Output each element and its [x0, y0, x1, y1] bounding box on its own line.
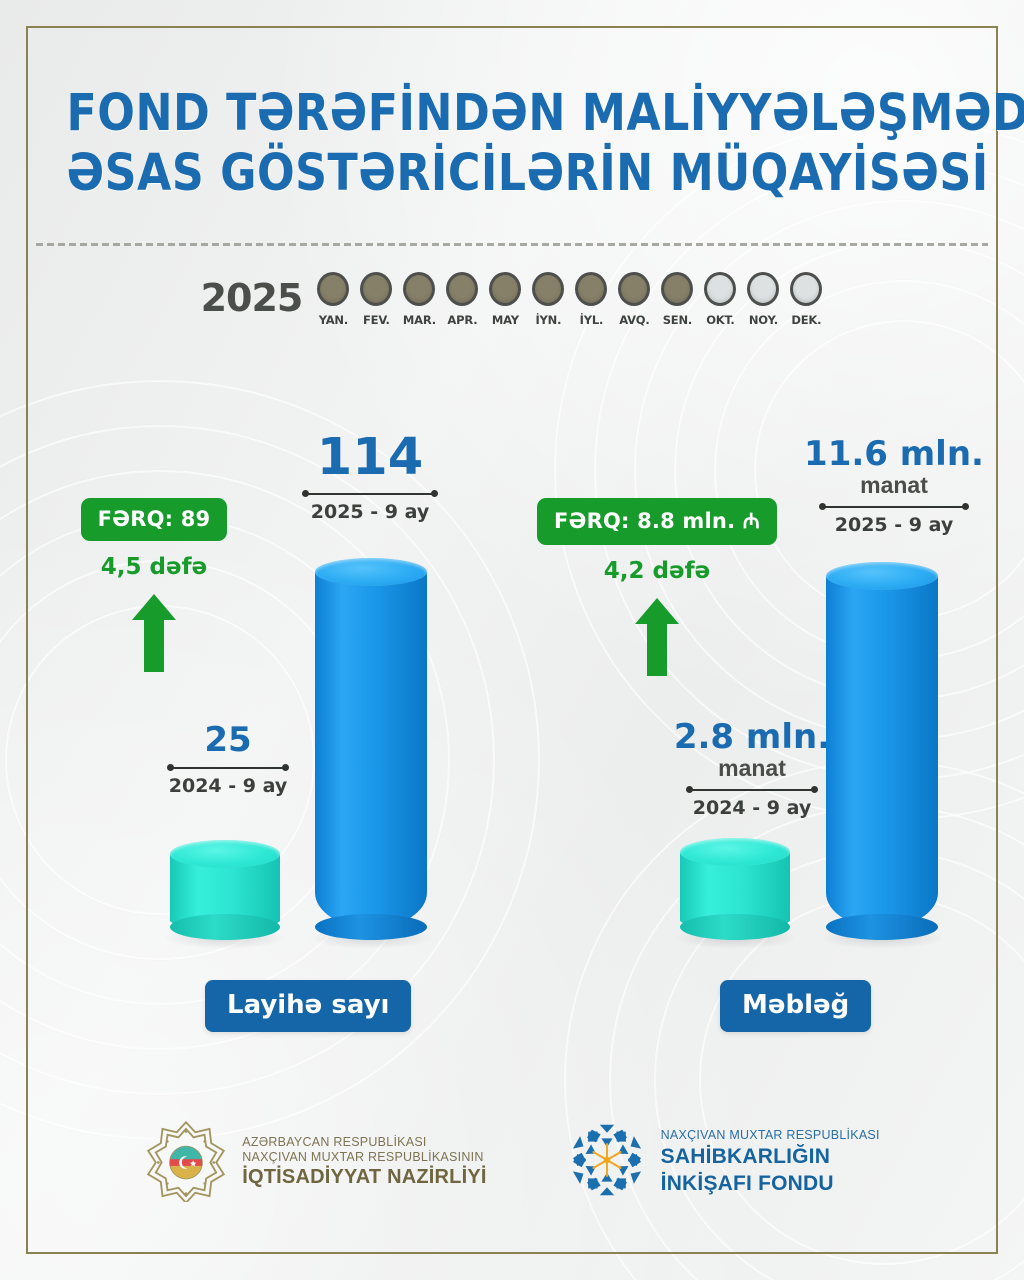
- projects-period-2024: 2024 - 9 ay: [158, 775, 298, 797]
- projects-bar-2025: [315, 558, 427, 940]
- projects-bar-2024: [170, 840, 280, 940]
- projects-difference-block: FƏRQ: 89 4,5 dəfə: [54, 498, 254, 672]
- amount-difference-block: FƏRQ: 8.8 mln. ₼ 4,2 dəfə: [512, 498, 802, 676]
- arrow-up-icon: [635, 598, 679, 676]
- infographic-poster: FOND TƏRƏFİNDƏN MALİYYƏLƏŞMƏDƏ ƏSAS GÖST…: [0, 0, 1024, 1280]
- amount-period-2024: 2024 - 9 ay: [662, 797, 842, 819]
- footer-logos: AZƏRBAYCAN RESPUBLİKASI NAXÇIVAN MUXTAR …: [0, 1118, 1024, 1207]
- projects-period-2025: 2025 - 9 ay: [290, 501, 450, 523]
- amount-value-2024: 2.8 mln.: [662, 720, 842, 755]
- fund-line-2: SAHİBKARLIĞIN: [661, 1145, 880, 1170]
- measure-rule: [819, 502, 969, 512]
- projects-callout-2025: 114 2025 - 9 ay: [290, 432, 450, 523]
- projects-category-chip: Layihə sayı: [205, 980, 411, 1032]
- fund-line-1: NAXÇIVAN MUXTAR RESPUBLİKASI: [661, 1128, 880, 1143]
- ministry-line-2: NAXÇIVAN MUXTAR RESPUBLİKASININ: [242, 1150, 486, 1165]
- amount-category-chip: Məbləğ: [720, 980, 871, 1032]
- ministry-line-1: AZƏRBAYCAN RESPUBLİKASI: [242, 1135, 486, 1150]
- fund-snowflake-icon: [567, 1120, 647, 1205]
- panel-amount: FƏRQ: 8.8 mln. ₼ 4,2 dəfə 11.6 mln. mana…: [512, 0, 1024, 1280]
- projects-value-2025: 114: [290, 432, 450, 484]
- projects-diff-multiple: 4,5 dəfə: [54, 554, 254, 580]
- amount-unit-2025: manat: [794, 473, 994, 497]
- arrow-up-icon: [132, 594, 176, 672]
- amount-unit-2024: manat: [662, 756, 842, 780]
- amount-callout-2024: 2.8 mln. manat 2024 - 9 ay: [662, 720, 842, 819]
- amount-bar-2024: [680, 838, 790, 940]
- measure-rule: [167, 763, 289, 773]
- fund-logo-text: NAXÇIVAN MUXTAR RESPUBLİKASI SAHİBKARLIĞ…: [661, 1128, 880, 1196]
- amount-value-2025: 11.6 mln.: [794, 437, 994, 472]
- amount-callout-2025: 11.6 mln. manat 2025 - 9 ay: [794, 437, 994, 536]
- azerbaijan-emblem-star-icon: [144, 1118, 228, 1207]
- amount-diff-multiple: 4,2 dəfə: [512, 558, 802, 584]
- ministry-line-3: İQTİSADİYYAT NAZİRLİYİ: [242, 1166, 486, 1190]
- measure-rule: [686, 785, 818, 795]
- logo-fund: NAXÇIVAN MUXTAR RESPUBLİKASI SAHİBKARLIĞ…: [567, 1120, 880, 1205]
- amount-period-2025: 2025 - 9 ay: [794, 514, 994, 536]
- projects-diff-badge: FƏRQ: 89: [81, 498, 228, 541]
- fund-line-3: İNKİŞAFI FONDU: [661, 1172, 880, 1197]
- measure-rule: [302, 489, 438, 499]
- amount-bar-2025: [826, 562, 938, 940]
- logo-ministry: AZƏRBAYCAN RESPUBLİKASI NAXÇIVAN MUXTAR …: [144, 1118, 486, 1207]
- ministry-logo-text: AZƏRBAYCAN RESPUBLİKASI NAXÇIVAN MUXTAR …: [242, 1135, 486, 1190]
- panel-projects: FƏRQ: 89 4,5 dəfə 114 2025 - 9 ay 25 202…: [0, 0, 512, 1280]
- projects-value-2024: 25: [158, 723, 298, 758]
- projects-callout-2024: 25 2024 - 9 ay: [158, 723, 298, 797]
- amount-diff-badge: FƏRQ: 8.8 mln. ₼: [537, 498, 777, 545]
